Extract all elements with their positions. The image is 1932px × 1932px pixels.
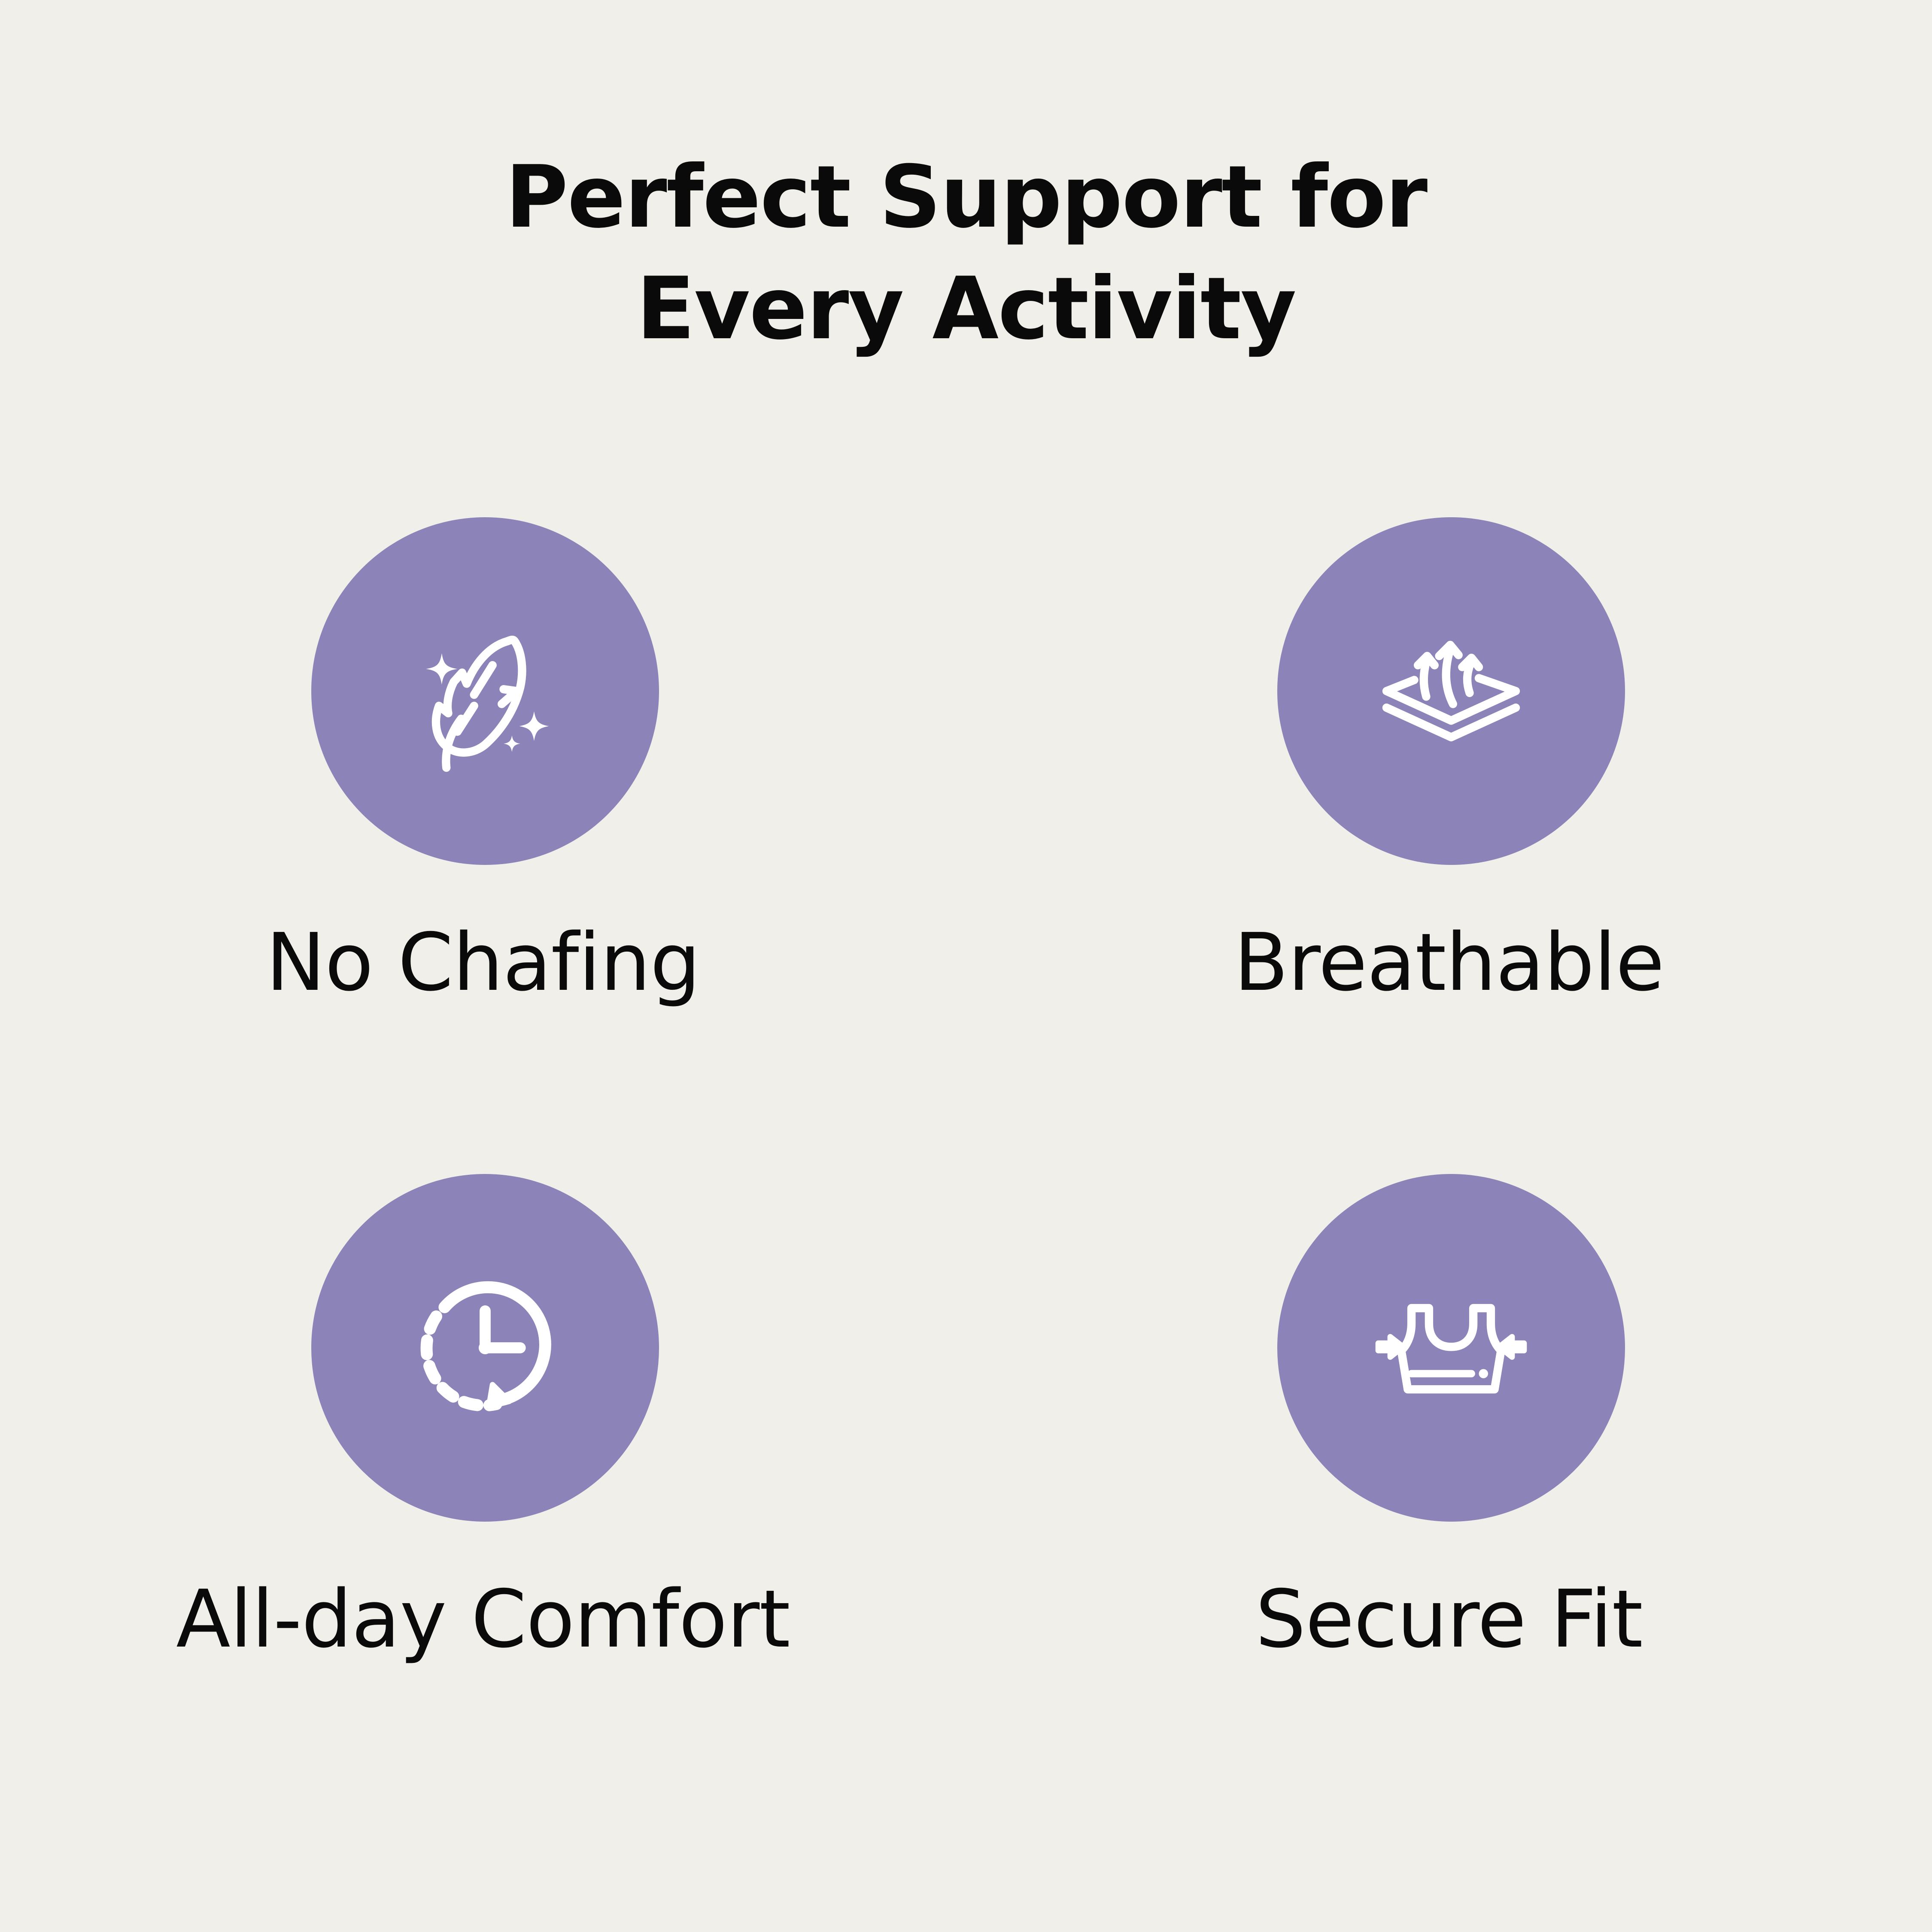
feature-label-all-day-comfort: All-day Comfort (176, 1580, 790, 1659)
feature-grid: No Chafing (0, 517, 1932, 1831)
feature-item-no-chafing[interactable]: No Chafing (0, 517, 966, 1002)
clock-arrow-head-icon (489, 1385, 509, 1407)
icon-badge-no-chafing (311, 517, 659, 865)
feature-label-no-chafing: No Chafing (266, 923, 700, 1002)
clock-center-dot (479, 1341, 492, 1354)
clock-dashed-arrow-icon (393, 1256, 577, 1440)
feature-infographic: Perfect Support for Every Activity (0, 0, 1932, 1932)
breathable-layers-arrows-icon (1359, 599, 1543, 783)
sports-bra-arrows-icon (1359, 1256, 1543, 1440)
page-title: Perfect Support for Every Activity (0, 142, 1932, 365)
feature-item-secure-fit[interactable]: Secure Fit (966, 1174, 1932, 1659)
icon-badge-breathable (1277, 517, 1625, 865)
sparkle-medium-icon (519, 711, 549, 741)
feature-item-breathable[interactable]: Breathable (966, 517, 1932, 1002)
feature-label-secure-fit: Secure Fit (1255, 1580, 1643, 1659)
feature-item-all-day-comfort[interactable]: All-day Comfort (0, 1174, 966, 1659)
icon-badge-secure-fit (1277, 1174, 1625, 1522)
bra-band-dot-icon (1479, 1369, 1488, 1378)
page-title-line-2: Every Activity (0, 253, 1932, 365)
feature-label-breathable: Breathable (1234, 923, 1664, 1002)
sparkle-small-icon (504, 735, 520, 752)
icon-badge-all-day-comfort (311, 1174, 659, 1522)
page-title-line-1: Perfect Support for (0, 142, 1932, 253)
feather-sparkle-icon (393, 599, 577, 783)
